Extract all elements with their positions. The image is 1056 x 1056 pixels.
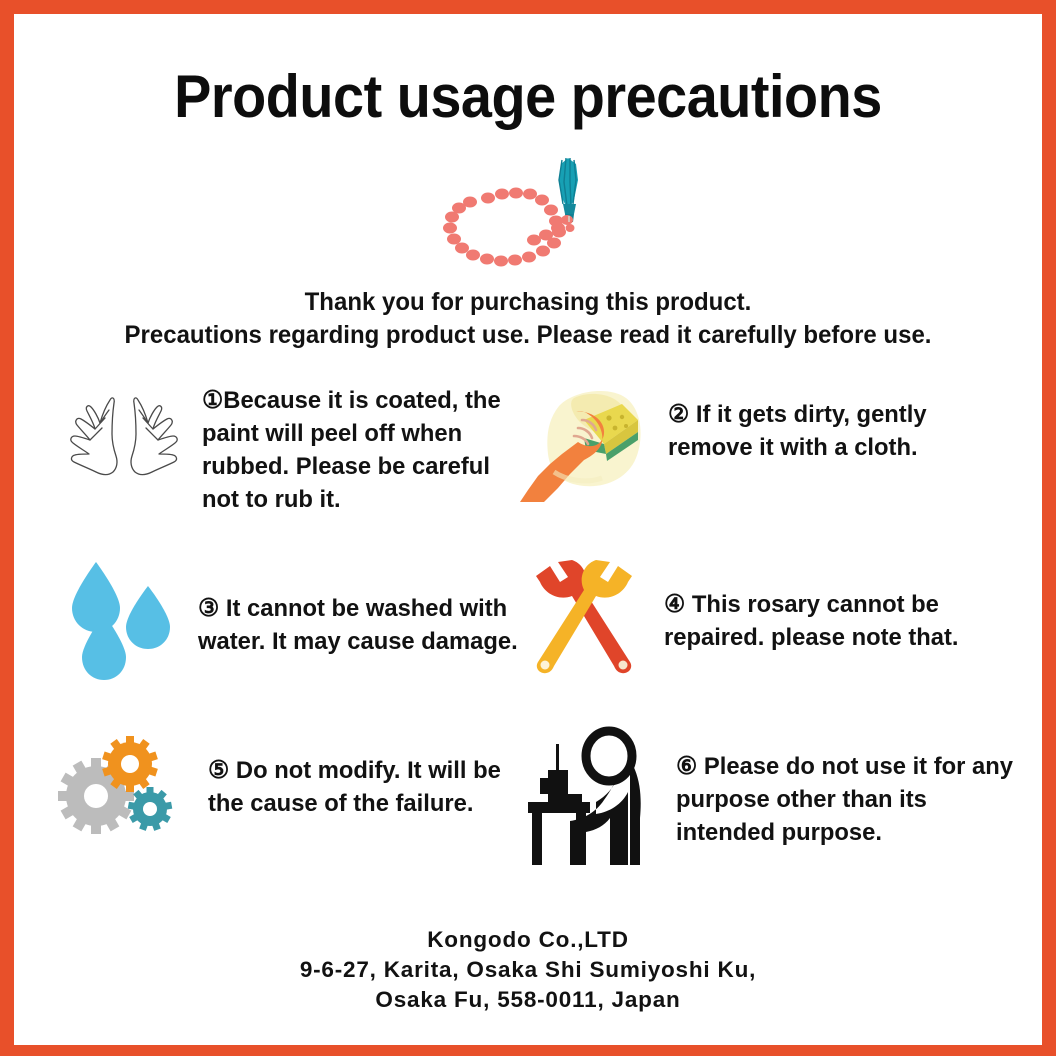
intro-line-1: Thank you for purchasing this product. (35, 286, 1022, 319)
gears-icon (54, 732, 194, 837)
rubbing-hands-icon (64, 376, 184, 486)
precaution-item-4: ④ This rosary cannot be repaired. please… (514, 558, 1024, 678)
precaution-text-2: ② If it gets dirty, gently remove it wit… (668, 398, 1004, 464)
gear-teal-icon (128, 787, 173, 831)
precautions-poster: Product usage precautions (0, 0, 1056, 1056)
footer-address: Kongodo Co.,LTD 9-6-27, Karita, Osaka Sh… (14, 925, 1042, 1015)
person-at-desk-icon (514, 722, 664, 872)
precautions-grid: ①Because it is coated, the paint will pe… (14, 372, 1042, 902)
footer-company: Kongodo Co.,LTD (14, 925, 1042, 955)
precaution-text-3: ③ It cannot be washed with water. It may… (198, 592, 524, 658)
poster-inner: Product usage precautions (14, 14, 1042, 1045)
precaution-text-5: ⑤ Do not modify. It will be the cause of… (208, 754, 515, 820)
precaution-text-4: ④ This rosary cannot be repaired. please… (664, 588, 1013, 654)
page-title: Product usage precautions (50, 62, 1006, 131)
precaution-item-2: ② If it gets dirty, gently remove it wit… (514, 376, 1014, 506)
precaution-item-1: ①Because it is coated, the paint will pe… (64, 376, 524, 516)
tassel-icon (559, 158, 578, 222)
water-droplets-icon (64, 558, 184, 683)
precaution-text-1: ①Because it is coated, the paint will pe… (202, 384, 514, 516)
bead-loop-icon (443, 188, 575, 267)
intro-text: Thank you for purchasing this product. P… (35, 286, 1022, 352)
footer-address-line-2: Osaka Fu, 558-0011, Japan (14, 985, 1042, 1015)
precaution-item-6: ⑥ Please do not use it for any purpose o… (514, 722, 1024, 872)
precaution-item-3: ③ It cannot be washed with water. It may… (64, 558, 534, 683)
precaution-text-6: ⑥ Please do not use it for any purpose o… (676, 750, 1014, 849)
hand-with-sponge-icon (514, 376, 654, 506)
precaution-item-5: ⑤ Do not modify. It will be the cause of… (54, 732, 524, 837)
rosary-beads-with-tassel-icon (428, 156, 628, 286)
footer-address-line-1: 9-6-27, Karita, Osaka Shi Sumiyoshi Ku, (14, 955, 1042, 985)
crossed-wrenches-icon (514, 558, 654, 678)
intro-line-2: Precautions regarding product use. Pleas… (35, 319, 1022, 352)
